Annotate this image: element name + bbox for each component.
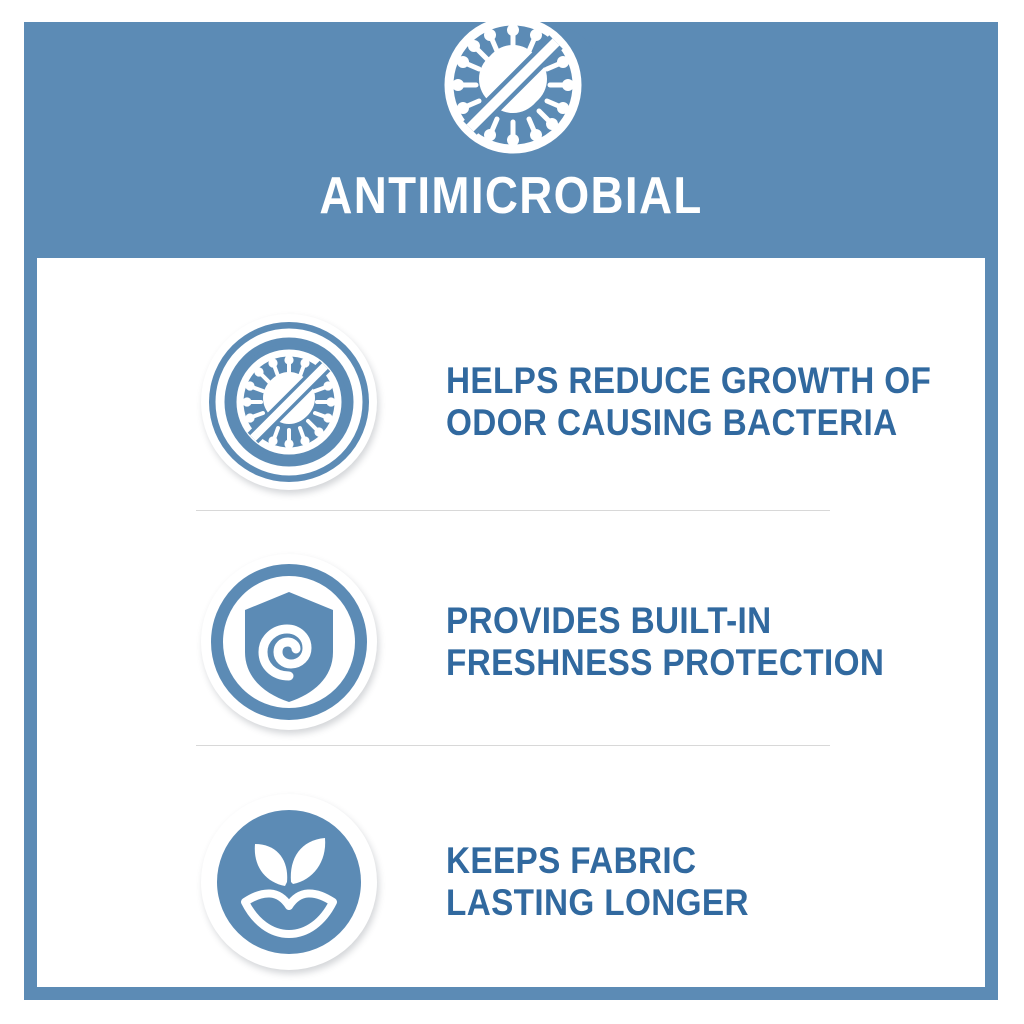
feature-label: KEEPS FABRIC LASTING LONGER [446, 840, 749, 924]
feature-badge [196, 789, 382, 975]
no-germ-icon [201, 314, 377, 490]
feature-label: HELPS REDUCE GROWTH OF ODOR CAUSING BACT… [446, 360, 931, 444]
feature-badge [196, 549, 382, 735]
feature-row: HELPS REDUCE GROWTH OF ODOR CAUSING BACT… [37, 302, 985, 502]
features-panel: HELPS REDUCE GROWTH OF ODOR CAUSING BACT… [37, 258, 985, 987]
feature-badge [196, 309, 382, 495]
feature-row: PROVIDES BUILT-IN FRESHNESS PROTECTION [37, 542, 985, 742]
row-divider [196, 510, 830, 511]
no-germ-icon [440, 12, 586, 158]
infographic-page: ANTIMICROBIAL [0, 0, 1024, 1024]
leaf-fabric-icon [201, 794, 377, 970]
feature-label: PROVIDES BUILT-IN FRESHNESS PROTECTION [446, 600, 884, 684]
feature-row: KEEPS FABRIC LASTING LONGER [37, 782, 985, 982]
shield-swirl-icon [201, 554, 377, 730]
row-divider [196, 745, 830, 746]
page-title: ANTIMICROBIAL [82, 168, 939, 224]
